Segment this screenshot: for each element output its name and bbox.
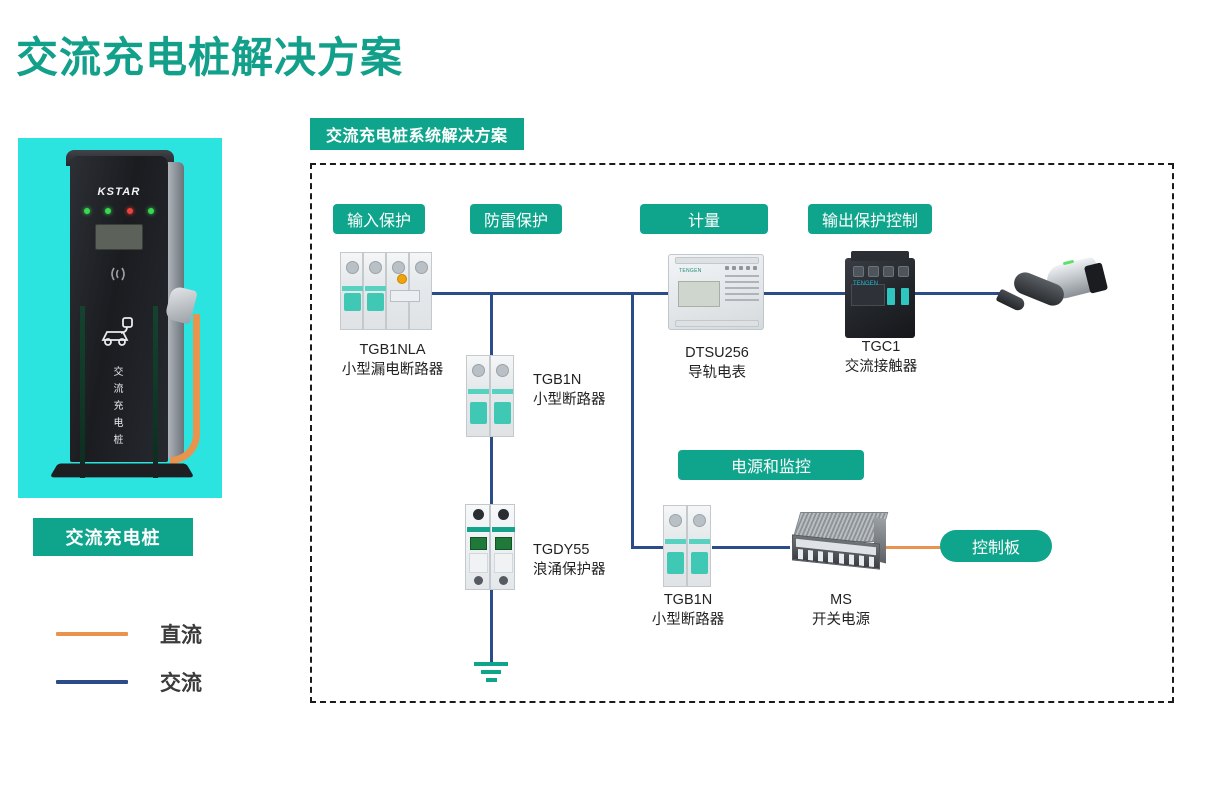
pile-vtext-char-0: 交 (70, 364, 168, 381)
pile-vtext-char-3: 电 (70, 415, 168, 432)
pile-base-plate (50, 463, 195, 477)
legend-item-dc: 直流 (56, 610, 202, 658)
charging-pile-body: KSTAR (70, 156, 168, 462)
caption-rcbo-name: 小型漏电断路器 (300, 360, 485, 380)
rcbo-test-button[interactable] (397, 274, 407, 284)
wire-ac-drop-to-aux-branch (631, 292, 634, 549)
wire-ac-drop-to-mcb (490, 292, 493, 360)
tag-control-board: 控制板 (940, 530, 1052, 562)
tag-power-and-monitoring: 电源和监控 (678, 450, 864, 480)
caption-contactor: TGC1 交流接触器 (818, 337, 944, 377)
mcb-aux-module-1 (663, 505, 687, 587)
spd-module-1 (465, 504, 490, 590)
mcb-main-module-1 (466, 355, 490, 437)
pile-display-screen (95, 224, 143, 250)
contactor-top-cover (851, 251, 909, 261)
spd-module-2 (490, 504, 515, 590)
caption-mcb-aux-model: TGB1N (625, 590, 751, 610)
tag-output-protection-control: 输出保护控制 (808, 204, 932, 234)
rcbo-module-1 (340, 252, 363, 330)
led-green-1 (84, 208, 90, 214)
legend-swatch-dc (56, 632, 128, 636)
caption-meter-name: 导轨电表 (638, 363, 796, 383)
device-meter-dtsu256: TENGEN (668, 254, 764, 330)
rfid-wireless-icon (104, 264, 134, 288)
device-mcb-tgb1n-aux (663, 505, 713, 587)
led-green-3 (148, 208, 154, 214)
caption-spd-model: TGDY55 (533, 540, 606, 560)
led-red (127, 208, 133, 214)
meter-top-terminals (675, 257, 759, 264)
product-photo: KSTAR (18, 138, 222, 498)
contactor-top-terminals (853, 266, 909, 277)
device-contactor-tgc1: TENGEN (845, 258, 915, 338)
device-spd-tgdy55 (465, 504, 517, 590)
pile-vtext-char-2: 充 (70, 398, 168, 415)
meter-led-row (725, 266, 757, 270)
brand-label: KSTAR (70, 186, 168, 198)
mcb-aux-module-2 (687, 505, 711, 587)
contactor-nameplate (851, 284, 885, 306)
caption-psu: MS 开关电源 (778, 590, 904, 630)
status-leds (84, 208, 154, 214)
wire-ac-spd-to-ground (490, 590, 493, 662)
caption-rcbo-model: TGB1NLA (300, 340, 485, 360)
caption-mcb-main-model: TGB1N (533, 370, 606, 390)
rcbo-module-2 (363, 252, 386, 330)
caption-meter: DTSU256 导轨电表 (638, 343, 796, 383)
meter-bottom-terminals (675, 320, 759, 327)
pile-vtext-char-4: 桩 (70, 432, 168, 449)
caption-mcb-main-name: 小型断路器 (533, 390, 606, 410)
caption-spd: TGDY55 浪涌保护器 (533, 540, 606, 580)
meter-text-lines (725, 275, 759, 305)
meter-brand-label: TENGEN (679, 268, 702, 274)
product-caption: 交流充电桩 (33, 518, 193, 556)
wire-ac-mcb-aux-to-psu (712, 546, 790, 549)
caption-mcb-aux-name: 小型断路器 (625, 610, 751, 630)
legend-label-dc: 直流 (160, 619, 202, 649)
page-title: 交流充电桩解决方案 (16, 24, 403, 85)
caption-psu-model: MS (778, 590, 904, 610)
caption-meter-model: DTSU256 (638, 343, 796, 363)
caption-mcb-aux: TGB1N 小型断路器 (625, 590, 751, 630)
tag-input-protection: 输入保护 (333, 204, 425, 234)
wire-ac-aux-branch-horizontal (631, 546, 663, 549)
device-psu-ms (790, 512, 886, 574)
meter-lcd-display (678, 281, 720, 307)
caption-mcb-main: TGB1N 小型断路器 (533, 370, 606, 410)
pile-vertical-text: 交 流 充 电 桩 (70, 364, 168, 449)
led-green-2 (105, 208, 111, 214)
wire-ac-mcb-to-spd (490, 437, 493, 509)
mcb-main-module-2 (490, 355, 514, 437)
caption-contactor-model: TGC1 (818, 337, 944, 357)
caption-spd-name: 浪涌保护器 (533, 560, 606, 580)
caption-psu-name: 开关电源 (778, 610, 904, 630)
rcbo-indicator-window (390, 290, 420, 302)
tag-metering: 计量 (640, 204, 768, 234)
device-rcbo-tgb1nla (340, 252, 432, 330)
ground-symbol (474, 662, 508, 686)
legend-item-ac: 交流 (56, 658, 202, 706)
pile-vtext-char-1: 流 (70, 381, 168, 398)
legend-label-ac: 交流 (160, 667, 202, 697)
legend-swatch-ac (56, 680, 128, 684)
wire-ac-meter-to-contactor (758, 292, 846, 295)
page-root: 交流充电桩解决方案 KSTAR (0, 0, 1213, 812)
charging-cable (170, 314, 200, 464)
legend: 直流 交流 (56, 610, 202, 706)
ground-bar-1 (474, 662, 508, 666)
diagram-header: 交流充电桩系统解决方案 (310, 118, 524, 150)
tag-lightning-protection: 防雷保护 (470, 204, 562, 234)
caption-rcbo: TGB1NLA 小型漏电断路器 (300, 340, 485, 380)
device-mcb-tgb1n-main (466, 355, 516, 437)
ground-bar-3 (486, 678, 497, 682)
contactor-buttons[interactable] (887, 288, 909, 305)
caption-contactor-name: 交流接触器 (818, 357, 944, 377)
wire-dc-psu-to-control-board (886, 546, 944, 549)
contactor-brand-label: TENGEN (853, 281, 878, 287)
wire-ac-contactor-to-gun (912, 292, 1000, 295)
ground-bar-2 (481, 670, 501, 674)
ev-gun-connector (995, 256, 1105, 318)
ev-charging-icon (92, 314, 146, 358)
